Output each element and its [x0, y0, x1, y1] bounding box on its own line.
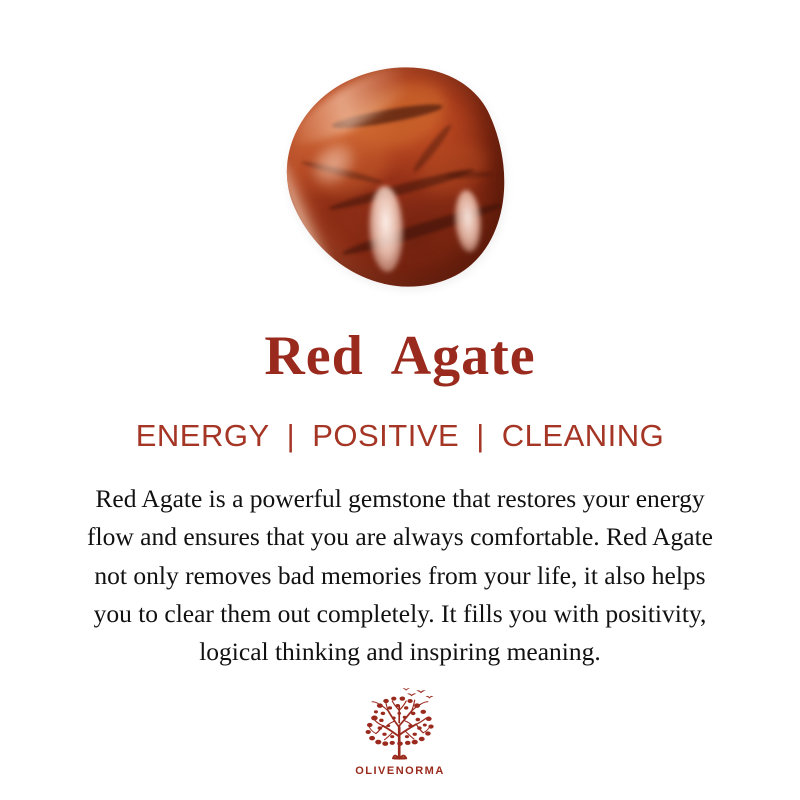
attribute-cleaning: CLEANING — [502, 418, 664, 454]
product-image-area — [0, 0, 800, 320]
brand-wordmark: OLIVENORMA — [355, 765, 445, 777]
red-agate-stone-image — [256, 34, 544, 325]
stone-vein — [446, 171, 492, 180]
tree-of-life-icon — [357, 687, 443, 763]
description-line: flow and ensures that you are always com… — [20, 518, 780, 556]
attribute-positive: POSITIVE — [312, 418, 459, 454]
description-line: not only removes bad memories from your … — [20, 557, 780, 595]
attribute-separator: | — [476, 418, 485, 454]
description-line: logical thinking and inspiring meaning. — [20, 633, 780, 671]
stone-body — [256, 34, 544, 325]
brand-logo: OLIVENORMA — [355, 687, 445, 777]
description-line: Red Agate is a powerful gemstone that re… — [20, 480, 780, 518]
stone-gloss-highlight-secondary — [453, 189, 483, 253]
product-info-card: Red Agate ENERGY | POSITIVE | CLEANING R… — [0, 0, 800, 800]
product-description: Red Agate is a powerful gemstone that re… — [20, 480, 780, 671]
attribute-energy: ENERGY — [136, 418, 270, 454]
stone-gloss-highlight-primary — [368, 185, 405, 272]
product-attributes: ENERGY | POSITIVE | CLEANING — [136, 418, 665, 454]
description-line: you to clear them out completely. It fil… — [20, 595, 780, 633]
birds-icon — [403, 688, 434, 698]
attribute-separator: | — [287, 418, 296, 454]
stone-blotch — [412, 133, 495, 203]
product-title: Red Agate — [264, 328, 535, 384]
